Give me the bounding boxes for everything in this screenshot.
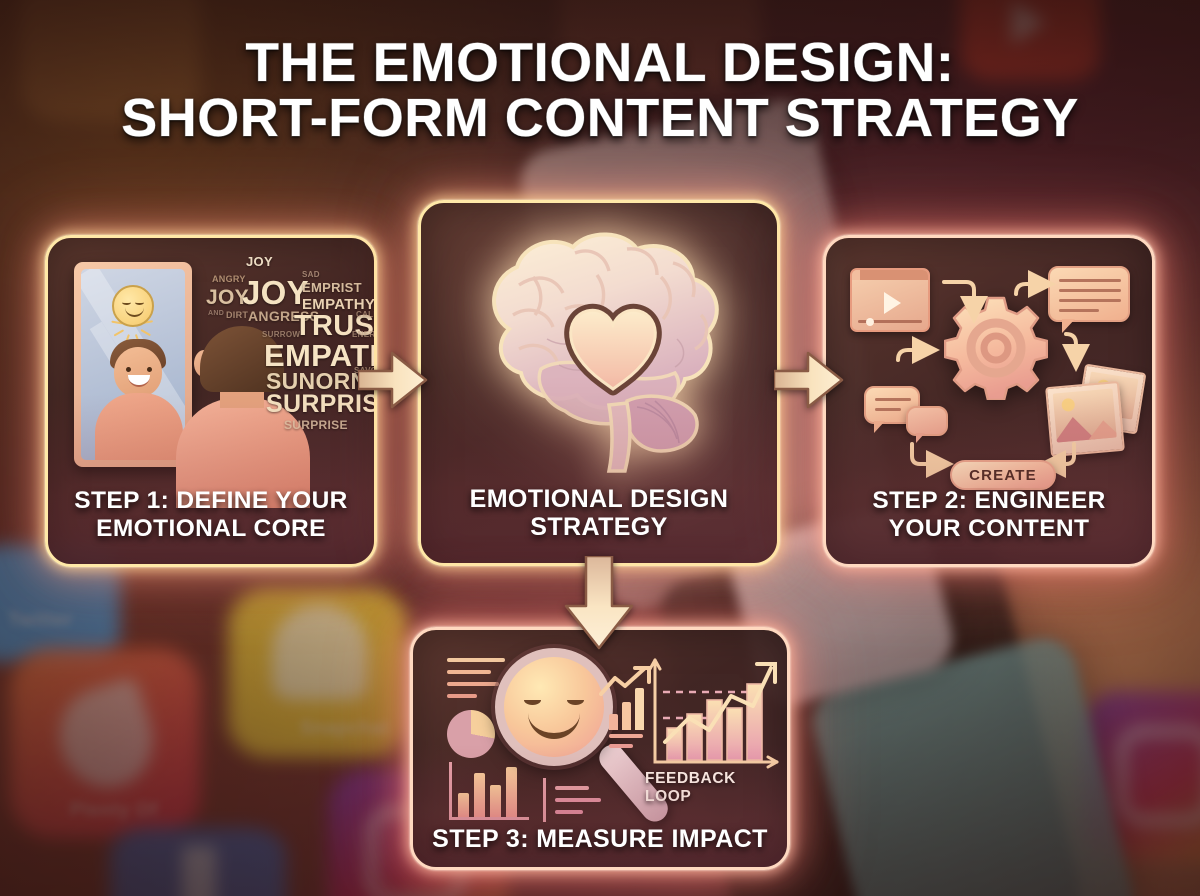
card-step-2[interactable]: CREATE STEP 2: ENGINEER YOUR CONTENT	[823, 235, 1155, 567]
bar	[622, 702, 631, 730]
card-step-1[interactable]: JOYANGRYJOYJOYSADEMPRISTEMPATHYANDDIRTAN…	[45, 235, 377, 567]
brain-icon	[449, 219, 755, 481]
title-line-1: THE EMOTIONAL DESIGN:	[245, 31, 954, 93]
bar-chart-icon	[449, 762, 529, 820]
card-step-2-caption-line-1: STEP 2: ENGINEER	[834, 487, 1144, 514]
word-cloud-term: EMPRIST	[302, 280, 362, 295]
word-cloud-term: DIRT	[226, 310, 248, 320]
doc-line	[609, 734, 643, 738]
create-button[interactable]: CREATE	[950, 460, 1056, 490]
mirror-frame-icon	[74, 262, 192, 467]
doc-line	[447, 670, 491, 674]
divider	[543, 778, 546, 822]
doc-line	[447, 682, 499, 686]
sun-ray	[140, 329, 151, 337]
bar	[506, 767, 517, 817]
sun-eye-left	[122, 300, 131, 305]
doc-line	[555, 810, 583, 814]
word-cloud-term: JOY	[246, 254, 273, 269]
card-center-caption-line-1: EMOTIONAL DESIGN	[429, 485, 769, 513]
reflection-body	[95, 393, 183, 460]
bar	[609, 714, 618, 730]
card-step-1-artwork: JOYANGRYJOYJOYSADEMPRISTEMPATHYANDDIRTAN…	[48, 238, 374, 516]
title-line-2: SHORT-FORM CONTENT STRATEGY	[0, 91, 1200, 147]
card-step-2-caption-line-2: YOUR CONTENT	[834, 515, 1144, 542]
smiley-eye-right	[567, 695, 584, 705]
mirror-glass	[81, 269, 185, 460]
word-cloud-term: SAD	[302, 270, 320, 279]
page-title: THE EMOTIONAL DESIGN: SHORT-FORM CONTENT…	[0, 34, 1200, 146]
doc-line	[447, 694, 477, 698]
card-center-strategy[interactable]: EMOTIONAL DESIGN STRATEGY	[418, 200, 780, 566]
card-step-1-caption-line-2: EMOTIONAL CORE	[56, 515, 366, 542]
smiling-sun-icon	[112, 285, 154, 327]
smiley-eye-left	[524, 695, 541, 705]
card-step-3[interactable]: FEEDBACK LOOP STEP 3: MEASURE IMPACT	[410, 627, 790, 870]
doc-line	[447, 658, 505, 662]
bar	[474, 773, 485, 817]
doc-line	[555, 798, 601, 802]
pie-chart-icon	[447, 710, 495, 758]
feedback-loop-label: FEEDBACK LOOP	[645, 770, 787, 806]
smiley-smile	[528, 711, 580, 739]
bar	[490, 785, 501, 817]
card-center-caption: EMOTIONAL DESIGN STRATEGY	[429, 485, 769, 541]
growth-chart	[649, 656, 783, 774]
card-step-2-artwork: CREATE	[826, 238, 1152, 508]
sun-eye-right	[135, 300, 144, 305]
reflection-eye-right	[147, 367, 152, 372]
emotion-word-cloud: JOYANGRYJOYJOYSADEMPRISTEMPATHYANDDIRTAN…	[206, 252, 377, 432]
word-cloud-term: CALM	[356, 310, 377, 319]
card-step-1-caption: STEP 1: DEFINE YOUR EMOTIONAL CORE	[56, 487, 366, 542]
magnifier-icon	[495, 648, 613, 766]
card-step-2-caption: STEP 2: ENGINEER YOUR CONTENT	[834, 487, 1144, 542]
arrow-center-to-step3	[558, 556, 640, 652]
sun-smile	[125, 306, 144, 317]
arrow-center-to-step2	[774, 345, 846, 415]
brain-heart-illustration	[449, 219, 755, 481]
card-step-3-caption: STEP 3: MEASURE IMPACT	[421, 825, 779, 853]
doc-line	[555, 786, 589, 790]
bar	[458, 793, 469, 817]
word-cloud-term: JOY	[242, 274, 309, 312]
card-center-artwork	[421, 203, 777, 488]
word-cloud-term: ANGRY	[212, 274, 246, 284]
reflection-head	[114, 347, 162, 397]
arrow-step1-to-center	[358, 345, 430, 415]
reflection-eye-left	[126, 367, 131, 372]
card-step-1-caption-line-1: STEP 1: DEFINE YOUR	[56, 487, 366, 514]
trend-arrow-icon	[599, 666, 655, 698]
card-step-3-artwork: FEEDBACK LOOP	[413, 630, 787, 826]
doc-line	[609, 744, 633, 748]
word-cloud-term: SURPRISE	[284, 418, 348, 432]
word-cloud-term: AND	[208, 310, 224, 317]
card-center-caption-line-2: STRATEGY	[429, 513, 769, 541]
